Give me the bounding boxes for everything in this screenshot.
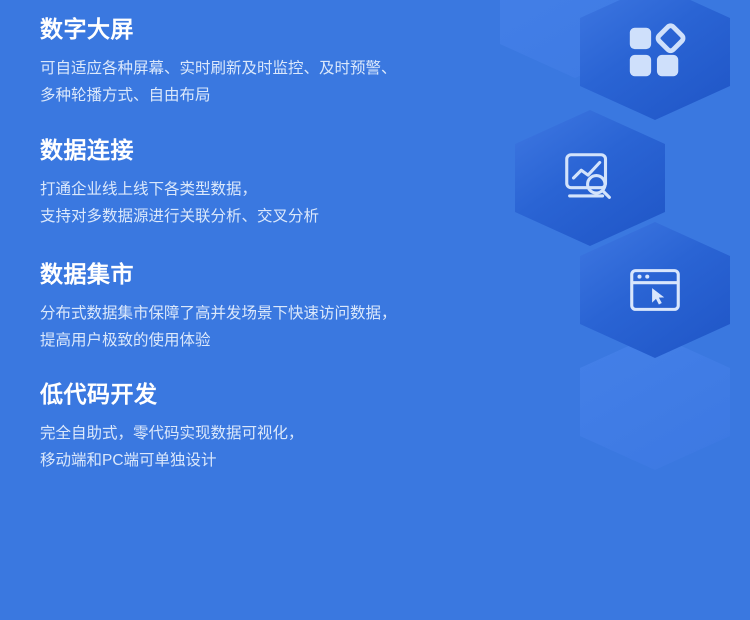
dashboard-grid-icon bbox=[624, 21, 686, 83]
ghost-hexagon-bottom bbox=[580, 334, 730, 470]
hexagon-tile-analysis bbox=[515, 110, 665, 246]
hexagon-tile-dashboard bbox=[580, 0, 730, 120]
feature-item-1: 数字大屏 可自适应各种屏幕、实时刷新及时监控、及时预警、 多种轮播方式、自由布局 bbox=[40, 13, 397, 109]
feature-description-line: 移动端和PC端可单独设计 bbox=[40, 447, 304, 474]
chart-analysis-search-icon bbox=[559, 147, 621, 209]
feature-title: 数据集市 bbox=[40, 258, 397, 290]
feature-description: 可自适应各种屏幕、实时刷新及时监控、及时预警、 多种轮播方式、自由布局 bbox=[40, 55, 397, 109]
promo-banner: 数字大屏 可自适应各种屏幕、实时刷新及时监控、及时预警、 多种轮播方式、自由布局… bbox=[0, 0, 750, 620]
ghost-hexagon-top bbox=[500, 0, 650, 78]
feature-description: 打通企业线上线下各类型数据， 支持对多数据源进行关联分析、交叉分析 bbox=[40, 176, 319, 230]
hexagon-tile-lowcode bbox=[580, 222, 730, 358]
feature-description: 分布式数据集市保障了高并发场景下快速访问数据， 提高用户极致的使用体验 bbox=[40, 300, 397, 354]
feature-description-line: 完全自助式，零代码实现数据可视化， bbox=[40, 420, 304, 447]
feature-item-3: 数据集市 分布式数据集市保障了高并发场景下快速访问数据， 提高用户极致的使用体验 bbox=[40, 258, 397, 354]
browser-window-cursor-icon bbox=[624, 259, 686, 321]
feature-description-line: 打通企业线上线下各类型数据， bbox=[40, 176, 319, 203]
feature-item-2: 数据连接 打通企业线上线下各类型数据， 支持对多数据源进行关联分析、交叉分析 bbox=[40, 134, 319, 230]
feature-title: 数字大屏 bbox=[40, 13, 397, 45]
feature-description-line: 可自适应各种屏幕、实时刷新及时监控、及时预警、 bbox=[40, 55, 397, 82]
feature-description-line: 支持对多数据源进行关联分析、交叉分析 bbox=[40, 203, 319, 230]
feature-description: 完全自助式，零代码实现数据可视化， 移动端和PC端可单独设计 bbox=[40, 420, 304, 474]
feature-description-line: 多种轮播方式、自由布局 bbox=[40, 82, 397, 109]
feature-description-line: 分布式数据集市保障了高并发场景下快速访问数据， bbox=[40, 300, 397, 327]
feature-title: 低代码开发 bbox=[40, 378, 304, 410]
feature-item-4: 低代码开发 完全自助式，零代码实现数据可视化， 移动端和PC端可单独设计 bbox=[40, 378, 304, 474]
feature-title: 数据连接 bbox=[40, 134, 319, 166]
feature-description-line: 提高用户极致的使用体验 bbox=[40, 327, 397, 354]
